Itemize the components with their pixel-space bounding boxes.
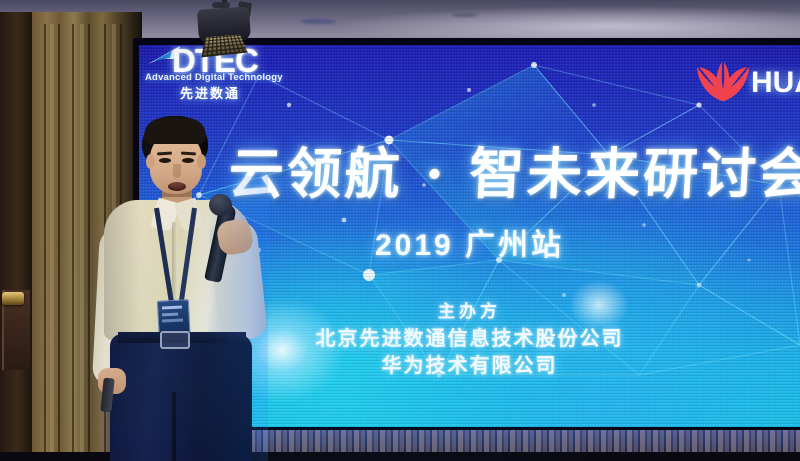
presenter-eye-right bbox=[182, 158, 194, 163]
door-handle-icon[interactable] bbox=[2, 292, 24, 305]
presenter bbox=[96, 116, 268, 461]
ceiling-mark bbox=[300, 19, 336, 24]
presenter-mouth bbox=[168, 182, 186, 191]
ceiling-mark-secondary bbox=[452, 13, 478, 17]
conference-photo: DTEC Advanced Digital Technology 先进数通 HU… bbox=[0, 0, 800, 461]
door-panel[interactable] bbox=[0, 12, 32, 461]
presenter-eye-left bbox=[159, 158, 171, 163]
presenter-trousers bbox=[110, 334, 252, 461]
ceiling-sheen bbox=[330, 6, 800, 40]
stage-spotlight-icon bbox=[188, 0, 260, 56]
belt-buckle-icon bbox=[160, 331, 190, 349]
